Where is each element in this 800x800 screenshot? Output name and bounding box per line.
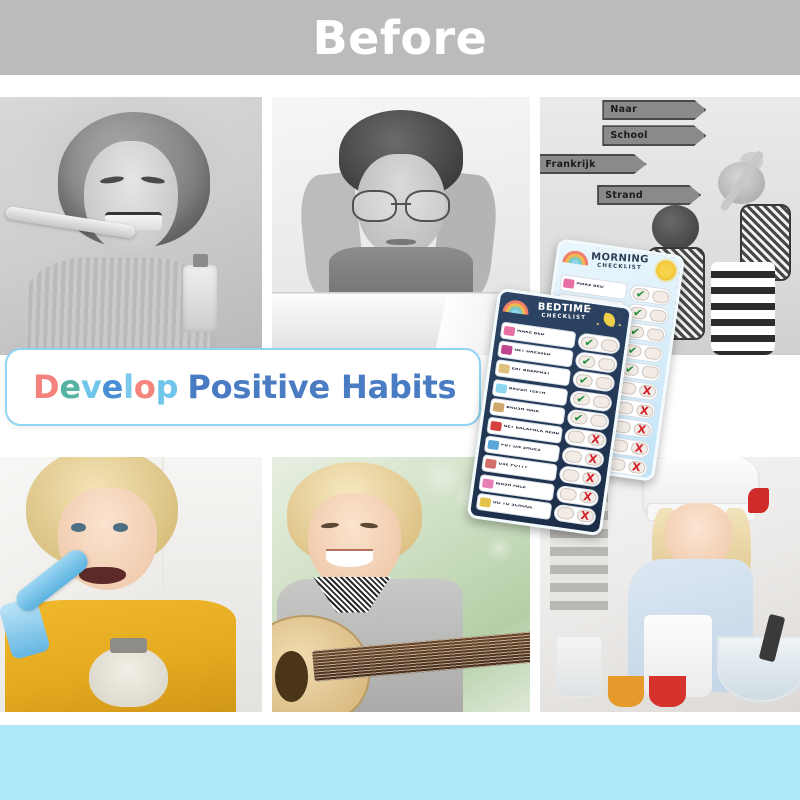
cross-icon: X xyxy=(583,491,593,503)
checklist-item-icon xyxy=(482,478,494,488)
baking-cup-red xyxy=(649,676,685,707)
checklist-slider-slot[interactable]: X xyxy=(638,384,657,398)
photo-toddler-brushing-teeth-yellow-shirt xyxy=(0,457,262,712)
checklist-item-text: EAT BREAFAST xyxy=(511,368,550,378)
cat-graphic xyxy=(89,646,168,707)
cross-icon: X xyxy=(591,434,601,446)
check-icon: ✔ xyxy=(633,307,644,319)
toothpaste-cap xyxy=(193,254,209,267)
checklist-slider-slot[interactable]: X xyxy=(576,509,595,523)
red-ribbon xyxy=(748,488,769,514)
checklist-item-text: BRUSH HAIR xyxy=(506,406,540,415)
bedtime-checklist-chart[interactable]: ✦ ✦ ✦ BEDTIME CHECKLIST MAKE BED✔GET DRE… xyxy=(467,288,634,537)
checklist-slider-knob[interactable]: ✔ xyxy=(574,373,593,387)
signpost: Naar xyxy=(602,100,706,121)
check-icon: ✔ xyxy=(578,374,589,386)
checklist-item-icon xyxy=(490,421,502,431)
checklist-slider-knob[interactable] xyxy=(561,468,580,482)
bedtime-title-line2: CHECKLIST xyxy=(537,314,590,322)
check-icon: ✔ xyxy=(576,393,587,405)
rainbow-icon xyxy=(562,247,590,265)
checklist-item-icon xyxy=(487,440,499,450)
torso xyxy=(26,257,209,355)
cross-icon: X xyxy=(631,461,641,473)
morning-title-line2: CHECKLIST xyxy=(591,263,649,272)
checklist-item-icon xyxy=(479,497,491,507)
mixing-bowl xyxy=(717,636,800,702)
bedtime-checklist-rows: MAKE BED✔GET DRESSED✔EAT BREAFAST✔BRUSH … xyxy=(470,321,626,531)
footer-band xyxy=(0,725,800,800)
checklist-slider-slot[interactable]: X xyxy=(632,422,651,436)
checklist-slider-knob[interactable] xyxy=(556,506,575,520)
checklist-slider-knob[interactable]: ✔ xyxy=(631,287,650,301)
checklist-item-icon xyxy=(495,383,507,393)
signpost: School xyxy=(602,125,706,146)
checklist-slider-knob[interactable] xyxy=(558,487,577,501)
checklist-slider-slot[interactable]: X xyxy=(635,403,654,417)
checklist-slider-slot[interactable] xyxy=(597,357,616,371)
check-icon: ✔ xyxy=(627,345,638,357)
baking-cup-orange xyxy=(608,676,644,707)
checklist-slider-slot[interactable]: X xyxy=(586,433,605,447)
check-icon: ✔ xyxy=(630,326,641,338)
develop-positive-habits-banner: DevelopPositive Habits xyxy=(5,348,481,426)
checklist-item-icon xyxy=(485,459,497,469)
checklist-slider-knob[interactable]: ✔ xyxy=(572,392,591,406)
checklist-item-icon xyxy=(501,345,513,355)
checklist-slider-knob[interactable]: ✔ xyxy=(569,411,588,425)
checklist-item-icon xyxy=(563,278,575,288)
checklist-slider-slot[interactable] xyxy=(592,395,611,409)
banner-letter-6: p xyxy=(156,368,179,406)
checklist-slider-slot[interactable] xyxy=(648,308,667,322)
checklist-item-text: GET DRESSED xyxy=(514,349,551,359)
check-icon: ✔ xyxy=(581,355,592,367)
checklist-item-text: GET BACKPACK READY xyxy=(503,425,559,438)
checklist-slider-knob[interactable]: ✔ xyxy=(580,335,599,349)
smile xyxy=(326,549,372,567)
cross-icon: X xyxy=(637,423,647,435)
cross-icon: X xyxy=(634,442,644,454)
sun-icon xyxy=(655,259,678,282)
cross-icon: X xyxy=(580,510,590,522)
glasses-bridge xyxy=(391,203,412,205)
checklist-slider-slot[interactable]: X xyxy=(578,490,597,504)
checklist-slider-slot[interactable]: X xyxy=(627,460,646,474)
checklist-slider-slot[interactable] xyxy=(646,327,665,341)
cross-icon: X xyxy=(639,404,649,416)
morning-chart-title: MORNING CHECKLIST xyxy=(591,252,649,271)
checklist-item-text: BRUSH TEETH xyxy=(508,387,545,397)
banner-text: DevelopPositive Habits xyxy=(33,368,456,406)
checklist-slider-track[interactable]: X xyxy=(553,503,597,526)
page-title: Before xyxy=(313,11,488,65)
checklist-slider-slot[interactable]: X xyxy=(584,452,603,466)
check-icon: ✔ xyxy=(625,364,636,376)
banner-letter-1: e xyxy=(59,368,81,406)
checklist-item-text: MAKE BED xyxy=(516,330,544,339)
check-icon: ✔ xyxy=(584,336,595,348)
checklist-item-text: WASH FACE xyxy=(495,482,526,491)
guitar-soundhole xyxy=(275,651,309,702)
checklist-slider-slot[interactable] xyxy=(589,414,608,428)
banner-letter-0: D xyxy=(33,368,59,406)
signpost: Frankrijk xyxy=(540,154,647,175)
checklist-item-icon xyxy=(498,364,510,374)
banner-letter-3: e xyxy=(102,368,124,406)
signpost: Strand xyxy=(597,185,701,206)
face xyxy=(308,493,401,590)
page-header: Before xyxy=(0,0,800,75)
banner-letter-5: o xyxy=(134,368,156,406)
banner-word-develop: Develop xyxy=(33,368,178,406)
checklist-slider-slot[interactable] xyxy=(640,365,659,379)
checklist-slider-slot[interactable] xyxy=(651,289,670,303)
girl-pointing-with-backpack xyxy=(706,162,789,356)
checklist-item-text: MAKE BED xyxy=(576,282,604,291)
photo-girl-brushing-teeth-grimacing xyxy=(0,97,262,355)
checklist-item-text: PUT ON SHOES xyxy=(500,444,540,454)
bedtime-chart-title: BEDTIME CHECKLIST xyxy=(537,303,591,322)
checklist-slider-slot[interactable] xyxy=(594,376,613,390)
banner-letter-4: l xyxy=(123,368,134,406)
cross-icon: X xyxy=(585,472,595,484)
checklist-slider-slot[interactable] xyxy=(643,346,662,360)
check-icon: ✔ xyxy=(573,412,584,424)
cross-icon: X xyxy=(642,385,652,397)
rainbow-icon xyxy=(503,297,531,315)
chore-chart-group: MORNING CHECKLIST MAKE BED✔GET DRESSED✔E… xyxy=(480,238,690,538)
bow-graphic xyxy=(110,638,147,653)
checklist-item-icon xyxy=(503,326,515,336)
checklist-item-icon xyxy=(493,402,505,412)
check-icon: ✔ xyxy=(635,288,646,300)
banner-word-positive-habits: Positive Habits xyxy=(187,368,456,406)
cross-icon: X xyxy=(588,453,598,465)
checklist-item-text: USE POTTY xyxy=(498,463,528,472)
checklist-slider-knob[interactable]: ✔ xyxy=(577,354,596,368)
checklist-slider-slot[interactable]: X xyxy=(630,441,649,455)
checklist-item-text: GO TO SCHOOL xyxy=(492,501,533,511)
checklist-slider-knob[interactable] xyxy=(564,449,583,463)
banner-letter-2: v xyxy=(81,368,102,406)
checklist-slider-slot[interactable]: X xyxy=(581,471,600,485)
toothpaste-tube xyxy=(183,265,217,332)
checklist-slider-knob[interactable] xyxy=(566,430,585,444)
checklist-slider-slot[interactable] xyxy=(600,338,619,352)
flour-jar xyxy=(556,636,603,697)
